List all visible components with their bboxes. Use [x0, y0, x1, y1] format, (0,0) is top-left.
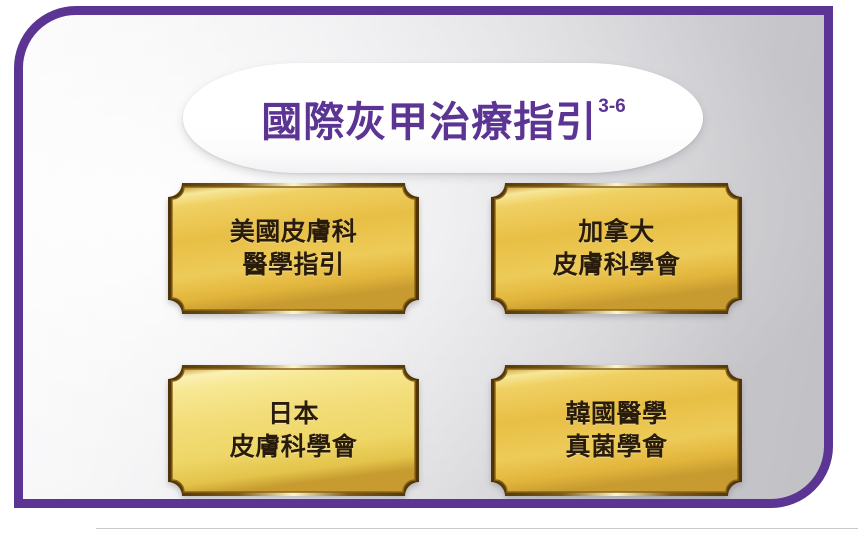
guideline-plaque[interactable]: 韓國醫學 真菌學會	[491, 365, 742, 496]
plaque-shape-icon	[491, 183, 742, 314]
guideline-plaque[interactable]: 美國皮膚科 醫學指引	[168, 183, 419, 314]
guideline-plaque[interactable]: 加拿大 皮膚科學會	[491, 183, 742, 314]
guideline-plaque-grid: 美國皮膚科 醫學指引	[154, 183, 740, 496]
purple-frame: 國際灰甲治療指引3-6	[14, 6, 833, 508]
plaque-shape-icon	[491, 365, 742, 496]
footer-divider	[96, 528, 858, 529]
page-title-superscript: 3-6	[598, 96, 625, 118]
page-title-text: 國際灰甲治療指引	[261, 88, 597, 148]
guideline-plaque[interactable]: 日本 皮膚科學會	[168, 365, 419, 496]
page-title: 國際灰甲治療指引3-6	[183, 63, 703, 173]
plaque-shape-icon	[168, 365, 419, 496]
plaque-shape-icon	[168, 183, 419, 314]
poster-root: 國際灰甲治療指引3-6	[0, 0, 858, 533]
